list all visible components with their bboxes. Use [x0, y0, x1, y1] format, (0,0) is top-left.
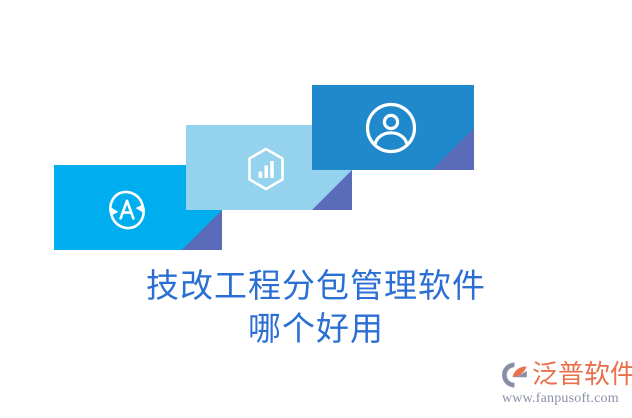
user-avatar-icon — [362, 99, 420, 157]
poster-canvas: 技改工程分包管理软件 哪个好用 泛普软件 www.fanpusoft.com — [0, 0, 632, 418]
brand-logo-top-row: 泛普软件 — [500, 358, 626, 391]
card-analytics-corner-triangle — [312, 170, 352, 210]
card-automation-corner-triangle — [182, 210, 222, 250]
card-account-corner-triangle — [432, 128, 474, 170]
brand-name: 泛普软件 — [532, 360, 632, 390]
card-stack — [0, 0, 632, 270]
headline-line-1: 技改工程分包管理软件 — [0, 264, 632, 307]
fanpu-swoosh-logo-icon — [500, 360, 530, 390]
card-account — [312, 85, 474, 170]
headline: 技改工程分包管理软件 哪个好用 — [0, 264, 632, 350]
headline-line-2: 哪个好用 — [0, 307, 632, 350]
brand-logo: 泛普软件 www.fanpusoft.com — [500, 358, 626, 410]
brand-url: www.fanpusoft.com — [500, 391, 626, 407]
hexagon-bar-chart-icon — [244, 146, 288, 192]
rotate-letter-a-icon — [102, 185, 152, 235]
